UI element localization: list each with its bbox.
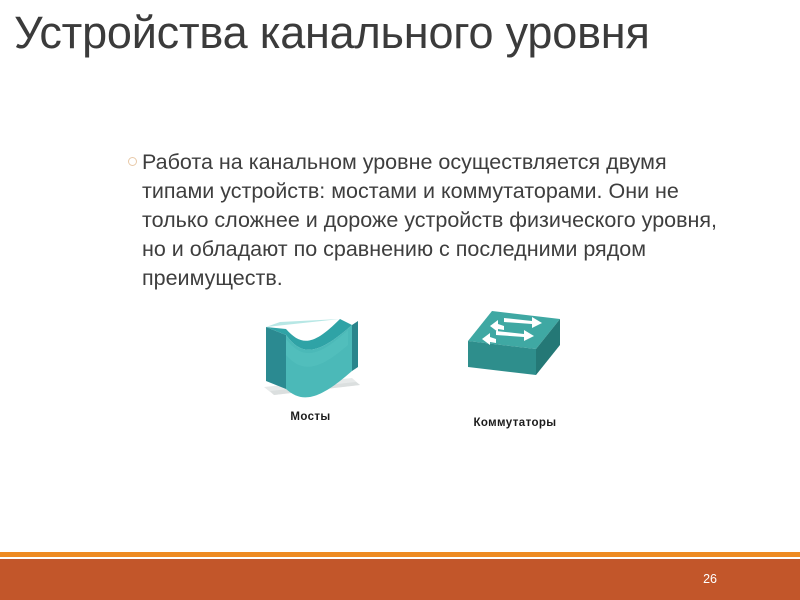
figure-bridge: Мосты	[238, 305, 383, 423]
figure-group: Мосты	[0, 305, 800, 455]
slide: Устройства канального уровня Работа на к…	[0, 0, 800, 600]
slide-number: 26	[703, 572, 717, 586]
hollow-circle-bullet-icon	[128, 157, 137, 166]
bullet-list-item: Работа на канальном уровне осуществляетс…	[128, 148, 738, 293]
figure-switch-caption: Коммутаторы	[440, 417, 590, 429]
page-title: Устройства канального уровня	[14, 8, 714, 58]
body-content: Работа на канальном уровне осуществляетс…	[128, 148, 738, 293]
footer-band	[0, 559, 800, 600]
network-switch-icon	[440, 305, 590, 405]
network-bridge-icon	[238, 305, 383, 405]
figure-switch: Коммутаторы	[440, 305, 590, 429]
figure-bridge-caption: Мосты	[238, 411, 383, 423]
bullet-item-text: Работа на канальном уровне осуществляетс…	[142, 148, 738, 293]
